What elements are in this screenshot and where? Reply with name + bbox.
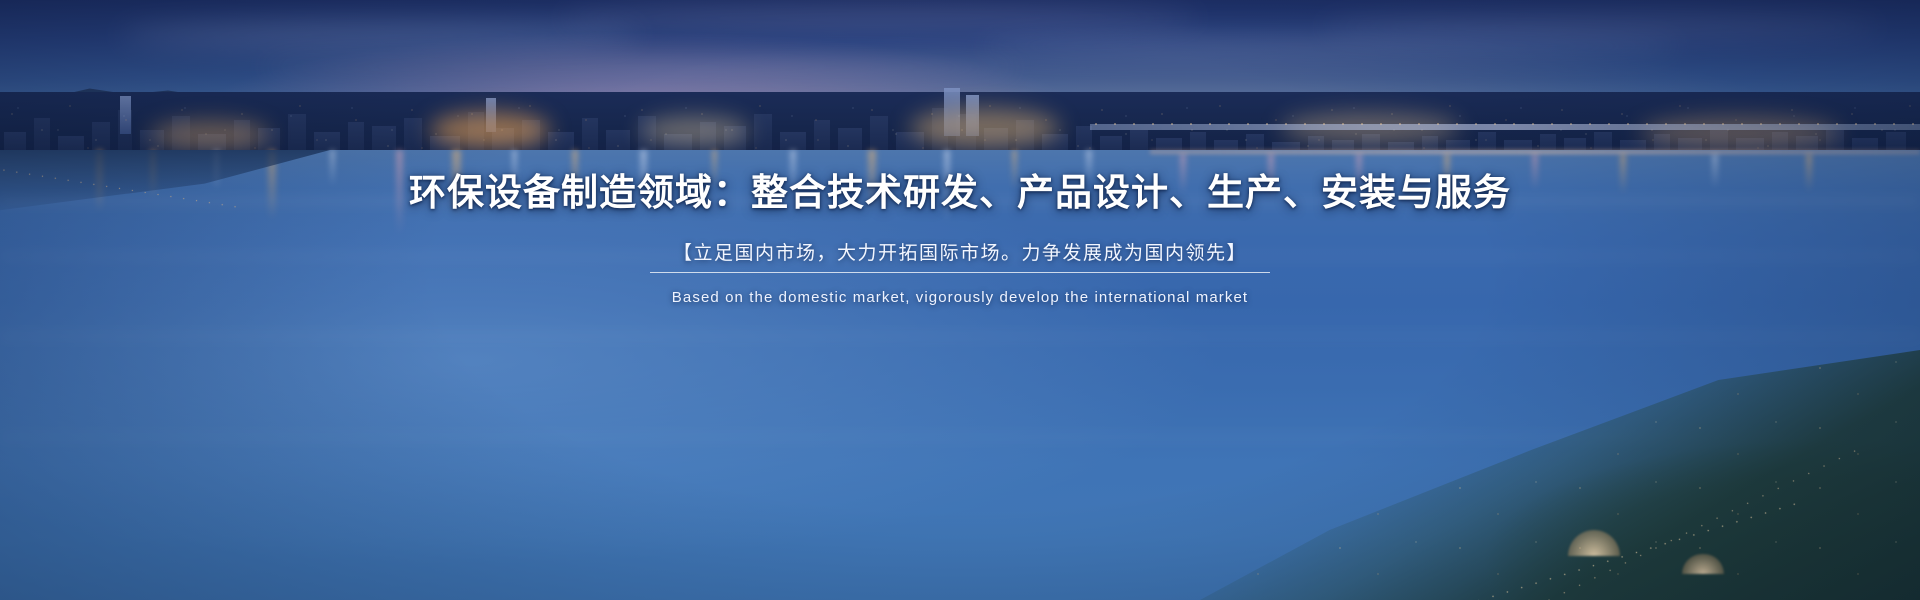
subtitle-divider: [650, 272, 1270, 273]
banner-subtitle-cn: 【立足国内市场，大力开拓国际市场。力争发展成为国内领先】: [673, 238, 1247, 265]
banner-subtitle-en: Based on the domestic market, vigorously…: [672, 289, 1248, 306]
banner-headline: 环保设备制造领域：整合技术研发、产品设计、生产、安装与服务: [409, 170, 1511, 216]
hero-banner: 环保设备制造领域：整合技术研发、产品设计、生产、安装与服务 【立足国内市场，大力…: [0, 0, 1920, 600]
banner-content: 环保设备制造领域：整合技术研发、产品设计、生产、安装与服务 【立足国内市场，大力…: [0, 0, 1920, 600]
